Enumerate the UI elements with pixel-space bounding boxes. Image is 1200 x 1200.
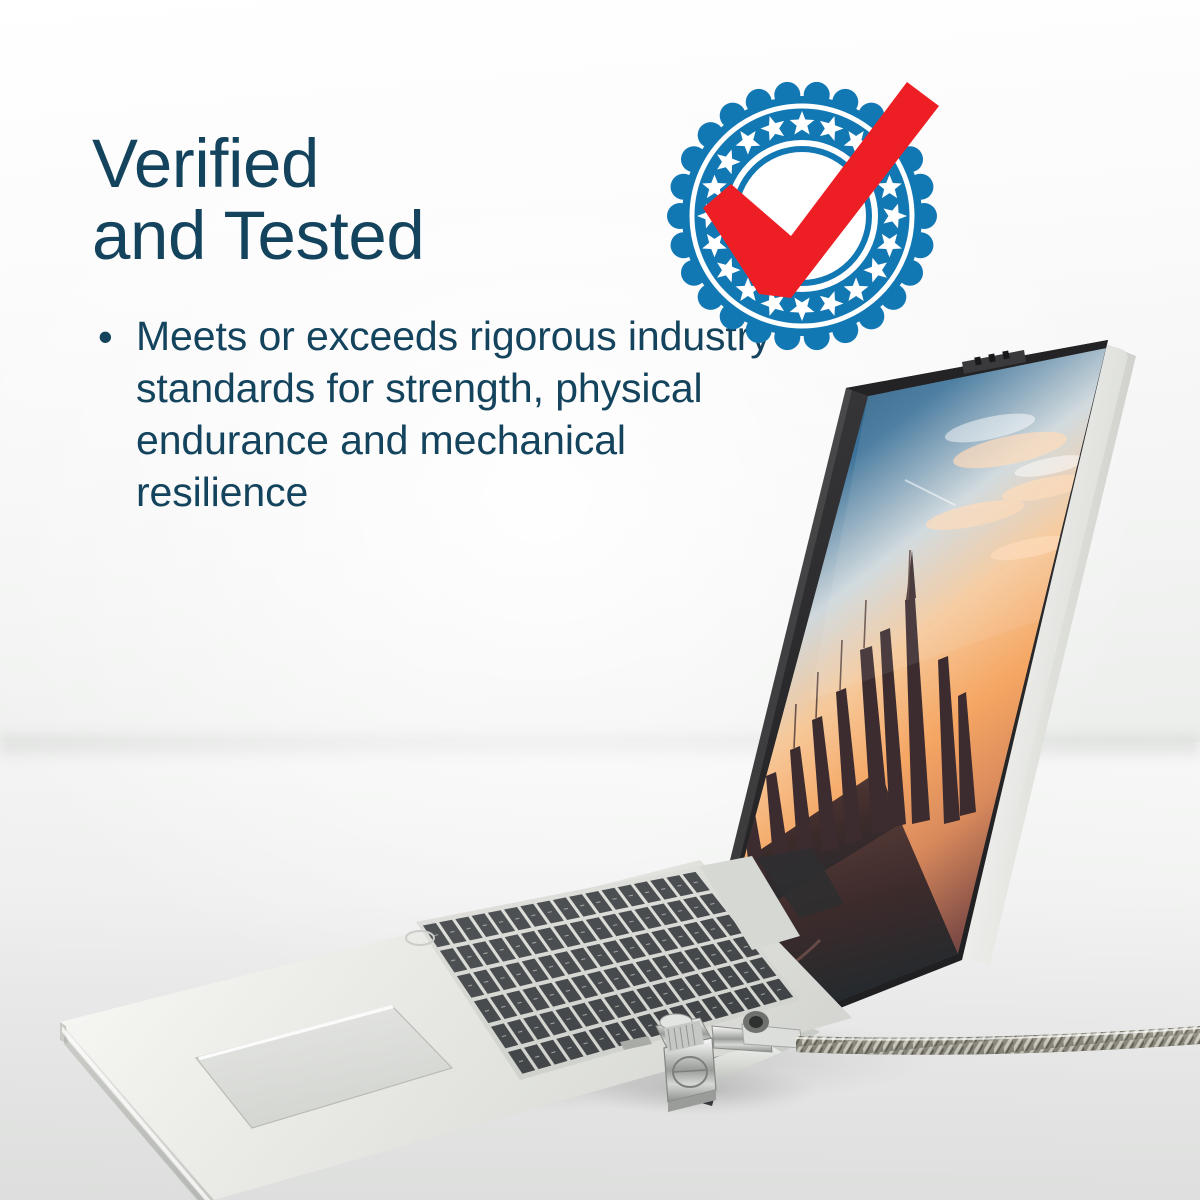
- key-legend: [580, 905, 584, 906]
- key-legend: [677, 885, 681, 886]
- laptop-illustration: [0, 300, 1200, 1200]
- base-chassis: [60, 848, 852, 1200]
- key-legend: [450, 931, 454, 932]
- key-legend: [645, 892, 649, 893]
- key-legend: [596, 902, 600, 903]
- key-legend: [661, 889, 665, 890]
- promo-image-stage: Verified and Tested • Meets or exceeds r…: [0, 0, 1200, 1200]
- key-legend: [613, 899, 617, 900]
